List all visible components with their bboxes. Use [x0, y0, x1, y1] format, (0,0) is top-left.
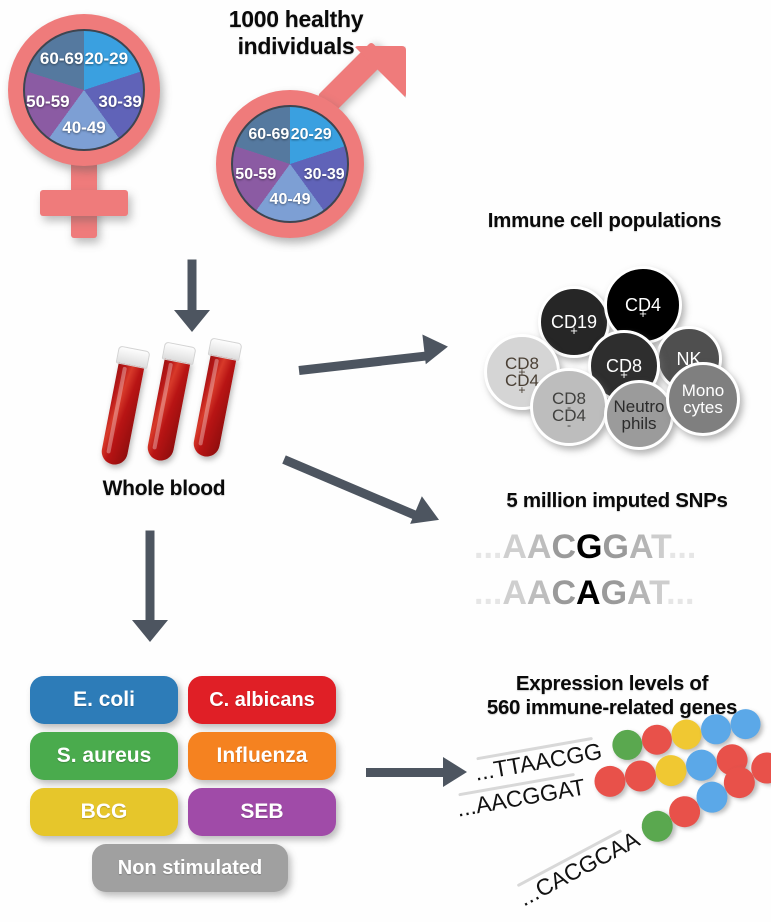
age-group-label-50-59: 50-59	[235, 166, 276, 184]
gene-expression-bead	[592, 763, 628, 799]
expression-title-line1: Expression levels of	[462, 672, 762, 696]
snp-base: G	[601, 574, 627, 612]
snp-base: A	[502, 528, 527, 566]
immune-cell-label: Neutrophils	[613, 398, 664, 433]
age-group-label-30-39: 30-39	[98, 92, 141, 112]
snp-sequence-row: ...AACAGAT...	[474, 574, 694, 613]
stimuli-panel: E. coliC. albicansS. aureusInfluenzaBCGS…	[30, 676, 340, 896]
stimulus-label: SEB	[240, 800, 283, 824]
gene-expression-bead	[684, 747, 720, 783]
whole-blood-tubes	[112, 338, 272, 478]
age-group-label-60-69: 60-69	[248, 126, 289, 144]
expression-title: Expression levels of 560 immune-related …	[462, 672, 762, 720]
snp-base: C	[551, 574, 576, 612]
age-group-label-40-49: 40-49	[270, 191, 311, 209]
stimulus-label: Influenza	[216, 744, 307, 768]
stimulus-bcg[interactable]: BCG	[30, 788, 178, 836]
snp-sequence-row: ...AACGGAT...	[474, 528, 696, 567]
age-group-label-30-39: 30-39	[304, 166, 345, 184]
gene-strand-sequence: ...CACGCAA	[514, 826, 644, 912]
immune-cell-label: CD8+	[606, 357, 642, 376]
snps-title: 5 million imputed SNPs	[470, 489, 764, 513]
immune-cell-cluster: CD19+CD4+NKCD8+CD8+CD4+CD8-CD4-Neutrophi…	[468, 240, 764, 420]
stimulus-seb[interactable]: SEB	[188, 788, 336, 836]
stimulus-label: C. albicans	[209, 689, 315, 712]
immune-cell-label: CD8-CD4-	[552, 390, 586, 425]
stimulus-c-albicans[interactable]: C. albicans	[188, 676, 336, 724]
snp-variant-base: A	[576, 574, 601, 612]
snp-base: A	[629, 528, 651, 566]
immune-cell-label: CD8+CD4+	[505, 355, 539, 390]
gene-expression-bead	[640, 722, 675, 757]
snp-base: A	[527, 574, 552, 612]
snp-base: T	[651, 528, 668, 566]
immune-cell-cd8--cd4-: CD8-CD4-	[530, 368, 608, 446]
snp-base: T	[649, 574, 666, 612]
gene-expression-bead	[622, 758, 658, 794]
stimulus-e-coli[interactable]: E. coli	[30, 676, 178, 724]
snp-base: C	[551, 528, 576, 566]
gene-expression-bead	[610, 728, 645, 763]
stimulus-label: E. coli	[73, 688, 135, 712]
age-group-label-40-49: 40-49	[62, 118, 105, 138]
snp-sequence-suffix: ...	[666, 574, 694, 612]
immune-cell-neutro-phils: Neutrophils	[604, 380, 674, 450]
immune-cell-label: CD4+	[625, 296, 661, 315]
immune-cell-label: CD19+	[551, 313, 597, 332]
immune-cell-label: Monocytes	[682, 382, 725, 417]
male-gender-symbol: 20-2930-3940-4950-5960-69	[208, 40, 428, 240]
snp-base: G	[602, 528, 628, 566]
age-group-label-60-69: 60-69	[40, 49, 83, 69]
snp-sequence-prefix: ...	[474, 528, 502, 566]
age-group-label-50-59: 50-59	[26, 92, 69, 112]
snp-base: A	[502, 574, 527, 612]
snp-base: A	[627, 574, 649, 612]
stimulus-label: BCG	[81, 800, 128, 824]
gene-expression-bead	[669, 717, 704, 752]
gene-expression-bead	[653, 752, 689, 788]
age-group-label-20-29: 20-29	[291, 126, 332, 144]
immune-cell-mono-cytes: Monocytes	[666, 362, 740, 436]
immune-cell-populations-title: Immune cell populations	[452, 209, 757, 233]
snp-sequence-block: ...AACGGAT......AACAGAT...	[470, 528, 764, 618]
snp-variant-base: G	[576, 528, 602, 566]
gene-strand-sequence: ...AACGGAT	[455, 773, 588, 822]
snp-sequence-prefix: ...	[474, 574, 502, 612]
age-group-label-20-29: 20-29	[85, 49, 128, 69]
snp-base: A	[527, 528, 552, 566]
stimulus-label: Non stimulated	[118, 857, 262, 880]
cohort-title-line1: 1000 healthy	[178, 6, 414, 33]
stimulus-label: S. aureus	[57, 744, 152, 768]
stimulus-non-stimulated[interactable]: Non stimulated	[92, 844, 288, 892]
figure-canvas: 1000 healthy individuals 20-2930-3940-49…	[0, 0, 771, 922]
female-symbol-crossbar	[40, 190, 128, 216]
whole-blood-label: Whole blood	[74, 477, 254, 501]
stimulus-influenza[interactable]: Influenza	[188, 732, 336, 780]
stimulus-s-aureus[interactable]: S. aureus	[30, 732, 178, 780]
gene-strand-block: ...TTAACGG...AACGGAT...CACGCAA	[455, 730, 771, 920]
female-gender-symbol: 20-2930-3940-4950-5960-69	[8, 14, 188, 244]
snp-sequence-suffix: ...	[668, 528, 696, 566]
